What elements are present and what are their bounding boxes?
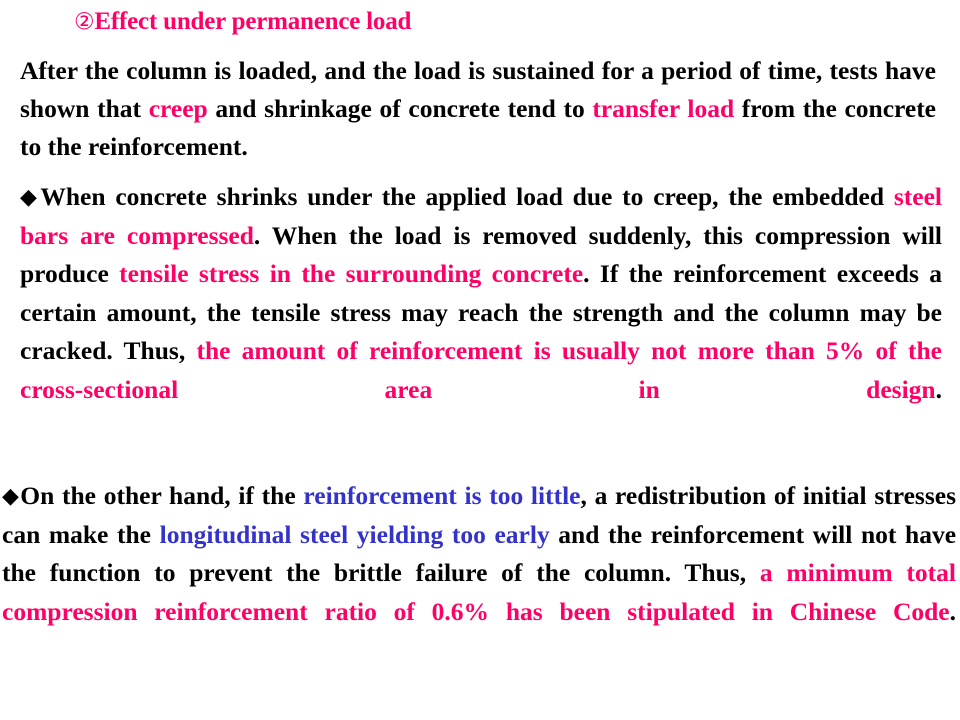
p1-run-2: and shrinkage of concrete tend to [208, 94, 593, 123]
p3-body: ◆On the other hand, if the reinforcement… [2, 477, 956, 670]
paragraph-creep-shrinkage: ◆When concrete shrinks under the applied… [20, 178, 942, 448]
p1-run-creep: creep [149, 94, 208, 123]
circled-number-icon: ② [74, 9, 94, 35]
p2-body: ◆When concrete shrinks under the applied… [20, 178, 942, 448]
slide-canvas: ②Effect under permanence load After the … [0, 0, 960, 720]
diamond-bullet-icon: ◆ [20, 185, 40, 210]
p2-run-0: When concrete shrinks under the applied … [40, 182, 894, 211]
p3-run-reinforcement-too-little: reinforcement is too little [303, 481, 580, 510]
p2-run-tensile-stress: tensile stress in the surrounding concre… [119, 259, 583, 288]
p1-run-transfer-load: transfer load [592, 94, 734, 123]
paragraph-too-little-reinforcement: ◆On the other hand, if the reinforcement… [2, 477, 956, 670]
p3-run-0: On the other hand, if the [20, 481, 303, 510]
p3-run-6: . [950, 597, 956, 626]
diamond-bullet-icon: ◆ [2, 484, 20, 509]
paragraph-permanence-load-intro: After the column is loaded, and the load… [20, 52, 936, 166]
p3-run-steel-yielding-early: longitudinal steel yielding too early [160, 520, 550, 549]
p2-run-6: . [936, 375, 942, 404]
slide-heading: ②Effect under permanence load [74, 6, 411, 38]
slide-heading-text: Effect under permanence load [94, 8, 411, 35]
